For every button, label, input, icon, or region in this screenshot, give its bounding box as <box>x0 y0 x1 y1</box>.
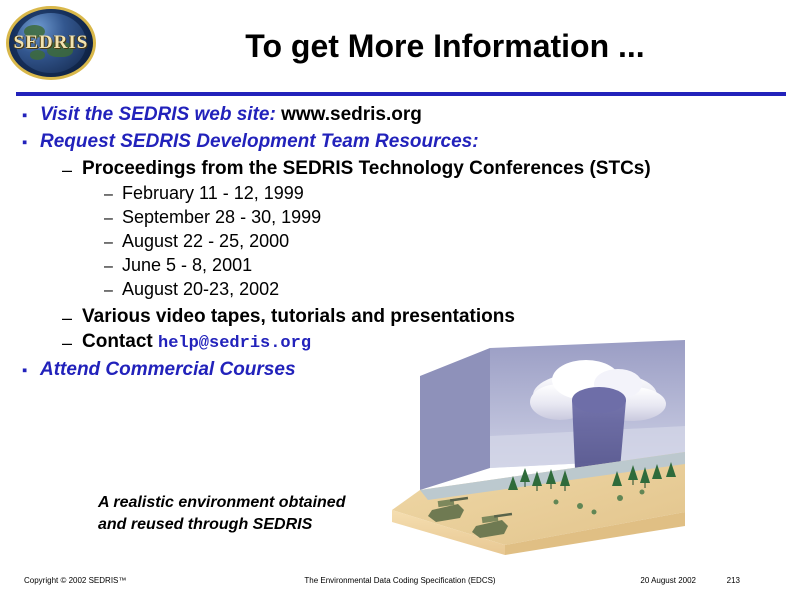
dash-bullet-icon: – <box>62 331 82 355</box>
list-item-label: September 28 - 30, 1999 <box>122 207 321 228</box>
list-item: – September 28 - 30, 1999 <box>104 207 800 230</box>
footer-date: 20 August 2002 <box>640 576 696 585</box>
footer-page-number: 213 <box>727 576 740 585</box>
bullet-plain-text: www.sedris.org <box>276 104 422 125</box>
list-item-label: August 22 - 25, 2000 <box>122 231 289 252</box>
title-divider <box>16 92 786 96</box>
square-bullet-icon: ▪ <box>22 131 40 155</box>
sky-side <box>420 348 490 490</box>
list-item-label: Attend Commercial Courses <box>40 359 296 381</box>
list-item: ▪ Request SEDRIS Development Team Resour… <box>22 131 800 155</box>
list-item-label: Request SEDRIS Development Team Resource… <box>40 131 479 153</box>
bullet-plain-prefix: www. <box>276 104 330 125</box>
caption-line-2: and reused through SEDRIS <box>98 514 428 536</box>
list-item: – August 20-23, 2002 <box>104 279 800 302</box>
slide-footer: Copyright © 2002 SEDRIS™ The Environment… <box>0 568 800 600</box>
illustration-caption: A realistic environment obtained and reu… <box>98 492 428 535</box>
square-bullet-icon: ▪ <box>22 359 40 383</box>
contact-email-link[interactable]: help@sedris.org <box>158 334 311 353</box>
dash-bullet-icon: – <box>62 158 82 182</box>
list-item: ▪ Visit the SEDRIS web site: www.sedris.… <box>22 104 800 128</box>
bullet-emph-text: Visit the SEDRIS web site: <box>40 104 276 125</box>
contact-label: Contact <box>82 331 158 352</box>
list-item-label: Visit the SEDRIS web site: www.sedris.or… <box>40 104 422 126</box>
list-item: – Proceedings from the SEDRIS Technology… <box>62 158 800 182</box>
dash-bullet-icon: – <box>104 207 122 230</box>
list-item-label: Contact help@sedris.org <box>82 331 311 354</box>
caption-line-1: A realistic environment obtained <box>98 492 428 514</box>
dash-bullet-icon: – <box>104 183 122 206</box>
slide: SEDRIS To get More Information ... ▪ Vis… <box>0 0 800 600</box>
dash-bullet-icon: – <box>62 306 82 330</box>
square-bullet-icon: ▪ <box>22 104 40 128</box>
list-item-label: February 11 - 12, 1999 <box>122 183 304 204</box>
list-item-label: Proceedings from the SEDRIS Technology C… <box>82 158 651 180</box>
sedris-logo: SEDRIS <box>6 6 96 80</box>
list-item-label: August 20-23, 2002 <box>122 279 279 300</box>
page-title: To get More Information ... <box>100 28 790 65</box>
list-item-label: Various video tapes, tutorials and prese… <box>82 306 515 328</box>
cloud-base <box>572 387 626 413</box>
list-item: – February 11 - 12, 1999 <box>104 183 800 206</box>
dash-bullet-icon: – <box>104 231 122 254</box>
logo-wordmark: SEDRIS <box>6 32 96 54</box>
dash-bullet-icon: – <box>104 255 122 278</box>
list-item: – August 22 - 25, 2000 <box>104 231 800 254</box>
dash-bullet-icon: – <box>104 279 122 302</box>
list-item: – Various video tapes, tutorials and pre… <box>62 306 800 330</box>
list-item: – June 5 - 8, 2001 <box>104 255 800 278</box>
list-item-label: June 5 - 8, 2001 <box>122 255 252 276</box>
slide-header: SEDRIS To get More Information ... <box>0 0 800 96</box>
bullet-domain-text: sedris.org <box>330 104 422 125</box>
